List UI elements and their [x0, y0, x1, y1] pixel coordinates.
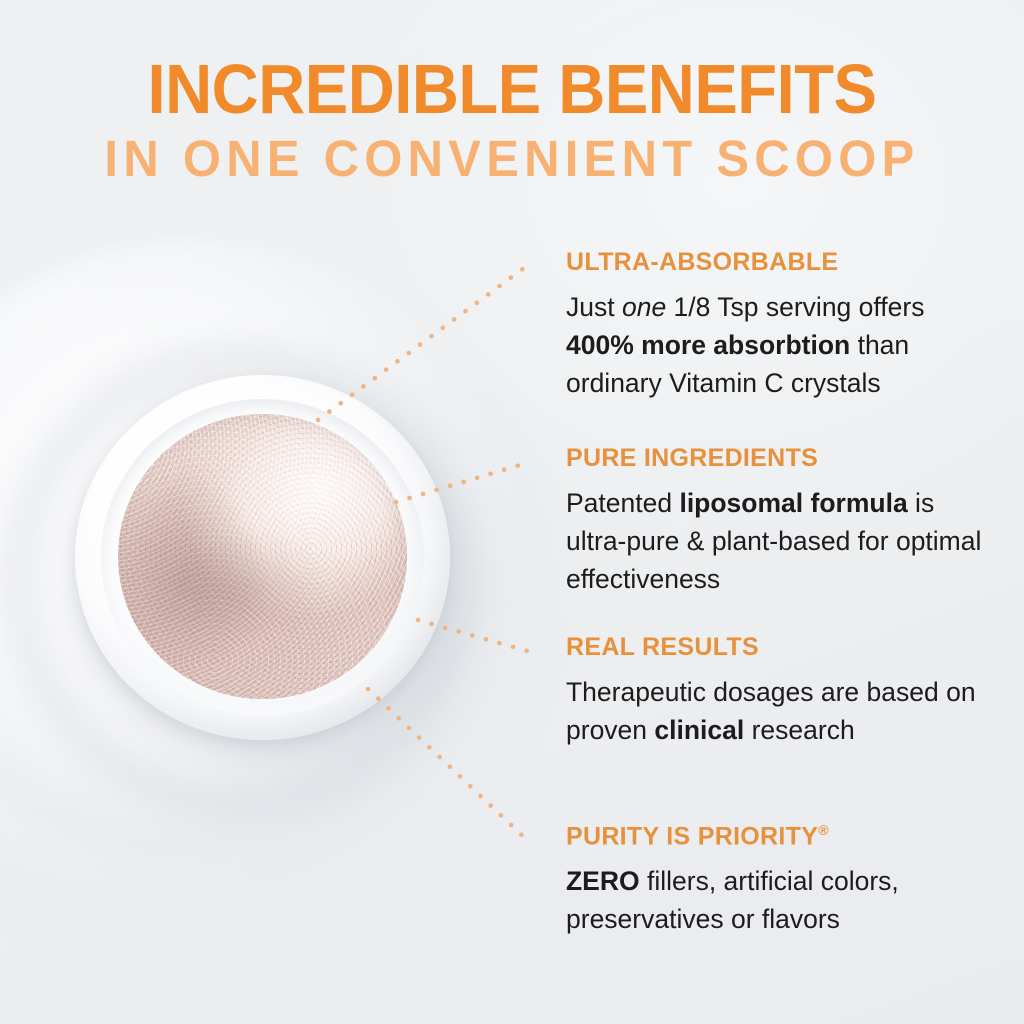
emphasis-bold: 400% more absorbtion — [566, 330, 850, 360]
benefit-body: Patented liposomal formula is ultra-pure… — [566, 484, 996, 598]
headline-block: INCREDIBLE BENEFITS IN ONE CONVENIENT SC… — [0, 56, 1024, 184]
body-text: Just — [566, 292, 622, 322]
emphasis-bold: clinical — [654, 715, 744, 745]
emphasis-bold: ZERO — [566, 866, 640, 896]
product-photo — [0, 215, 540, 1024]
emphasis-italic: one — [622, 292, 666, 322]
benefit-body: ZERO fillers, artificial colors, preserv… — [566, 862, 996, 938]
body-text: 1/8 Tsp serving offers — [666, 292, 924, 322]
benefit-block-purity-is-priority: PURITY IS PRIORITY® ZERO fillers, artifi… — [566, 822, 996, 938]
infographic-poster: INCREDIBLE BENEFITS IN ONE CONVENIENT SC… — [0, 0, 1024, 1024]
registered-trademark-icon: ® — [818, 822, 828, 838]
benefit-heading: ULTRA-ABSORBABLE — [566, 248, 996, 277]
page-subtitle: IN ONE CONVENIENT SCOOP — [20, 133, 1003, 184]
emphasis-bold: liposomal formula — [679, 488, 907, 518]
benefit-body: Just one 1/8 Tsp serving offers 400% mor… — [566, 288, 996, 402]
benefit-heading: REAL RESULTS — [566, 633, 996, 662]
benefit-block-ultra-absorbable: ULTRA-ABSORBABLE Just one 1/8 Tsp servin… — [566, 248, 996, 402]
benefit-heading: PURITY IS PRIORITY® — [566, 822, 996, 851]
benefit-heading: PURE INGREDIENTS — [566, 444, 996, 473]
pink-powder — [118, 414, 407, 699]
bowl-rim — [101, 399, 424, 716]
powder-bowl — [75, 375, 450, 740]
benefit-body: Therapeutic dosages are based on proven … — [566, 673, 996, 749]
page-title: INCREDIBLE BENEFITS — [36, 56, 988, 123]
body-text: research — [744, 715, 854, 745]
benefit-block-pure-ingredients: PURE INGREDIENTS Patented liposomal form… — [566, 444, 996, 598]
benefit-block-real-results: REAL RESULTS Therapeutic dosages are bas… — [566, 633, 996, 749]
body-text: Patented — [566, 488, 679, 518]
